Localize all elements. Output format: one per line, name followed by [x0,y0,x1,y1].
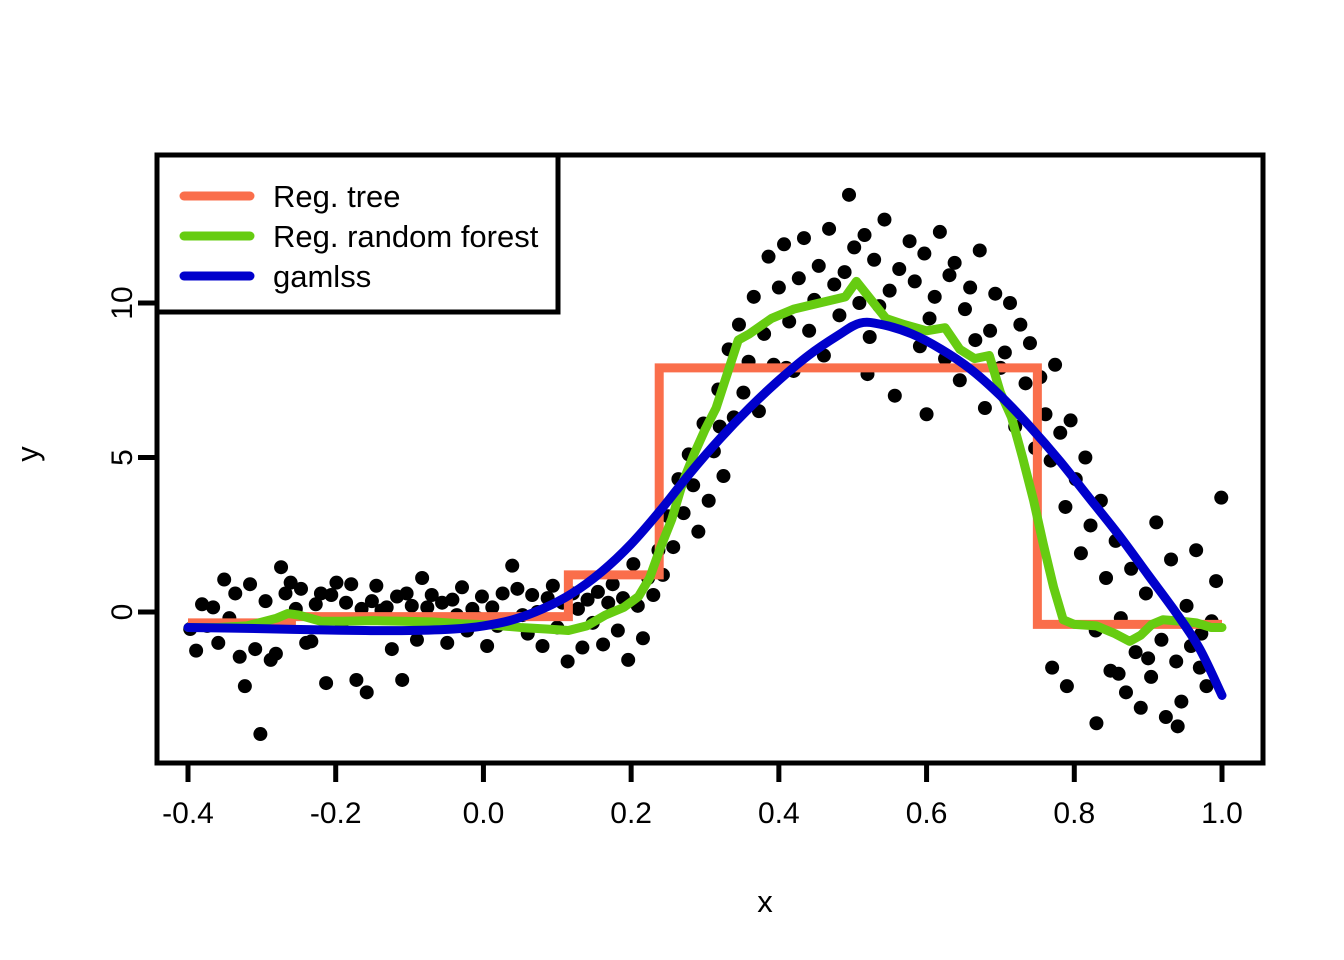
data-point [702,494,716,508]
data-point [827,277,841,291]
data-point [349,673,363,687]
data-point [812,259,826,273]
data-point [691,525,705,539]
data-point [415,571,429,585]
data-point [716,469,730,483]
data-point [546,579,560,593]
data-point [772,281,786,295]
data-point [319,676,333,690]
data-point [1141,651,1155,665]
data-point [304,634,318,648]
data-point [1089,716,1103,730]
data-point [842,188,856,202]
data-point [1134,701,1148,715]
data-point [822,222,836,236]
data-point [1112,667,1126,681]
data-point [802,324,816,338]
data-point [626,557,640,571]
data-point [525,588,539,602]
data-point [621,653,635,667]
data-point [385,642,399,656]
data-point [908,274,922,288]
legend-label: Reg. random forest [273,219,539,254]
data-point [867,253,881,267]
data-point [329,576,343,590]
x-axis-tick-label: 0.4 [758,797,800,830]
data-point [847,240,861,254]
data-point [274,560,288,574]
data-point [505,559,519,573]
legend-label: Reg. tree [273,179,401,214]
data-point [1099,571,1113,585]
data-point [1214,491,1228,505]
data-point [797,231,811,245]
data-point [536,639,550,653]
data-point [858,228,872,242]
data-point [1064,413,1078,427]
data-point [1074,546,1088,560]
data-point [1154,633,1168,647]
data-point [1171,719,1185,733]
data-point [1078,451,1092,465]
data-point [958,302,972,316]
data-point [480,639,494,653]
data-point [948,256,962,270]
data-point [747,290,761,304]
data-point [933,225,947,239]
data-point [1060,679,1074,693]
legend: Reg. treeReg. random forestgamlss [157,155,558,312]
data-point [832,308,846,322]
data-point [963,281,977,295]
data-point [903,234,917,248]
data-point [591,585,605,599]
data-point [983,324,997,338]
data-point [1149,515,1163,529]
data-point [238,679,252,693]
data-point [400,586,414,600]
data-point [732,318,746,332]
data-point [1045,661,1059,675]
data-point [892,262,906,276]
data-point [248,642,262,656]
data-point [1174,695,1188,709]
data-point [1119,685,1133,699]
data-point [369,579,383,593]
data-point [1209,574,1223,588]
data-point [344,577,358,591]
scatter-plot-canvas: -0.4-0.20.00.20.40.60.81.0x0510yReg. tre… [0,0,1344,960]
data-point [1058,500,1072,514]
x-axis-tick-label: -0.2 [310,797,362,830]
data-point [928,290,942,304]
data-point [988,287,1002,301]
chart-figure: -0.4-0.20.00.20.40.60.81.0x0510yReg. tre… [0,0,1344,960]
data-point [877,213,891,227]
data-point [233,650,247,664]
data-point [228,586,242,600]
x-axis-tick-label: 0.0 [463,797,505,830]
data-point [259,594,273,608]
data-point [973,243,987,257]
data-point [1048,358,1062,372]
data-point [1023,336,1037,350]
data-point [324,588,338,602]
data-point [360,685,374,699]
data-point [611,624,625,638]
x-axis-tick-label: 0.2 [610,797,652,830]
data-point [923,311,937,325]
data-point [189,644,203,658]
data-point [888,389,902,403]
data-point [1129,645,1143,659]
data-point [968,333,982,347]
data-point [978,401,992,415]
data-point [863,330,877,344]
data-point [1159,710,1173,724]
x-axis-tick-label: 1.0 [1201,797,1243,830]
data-point [883,284,897,298]
data-point [917,247,931,261]
data-point [206,600,220,614]
data-point [575,641,589,655]
data-point [1139,586,1153,600]
data-point [646,588,660,602]
data-point [998,345,1012,359]
x-axis-tick-label: 0.8 [1053,797,1095,830]
data-point [1144,670,1158,684]
data-point [496,586,510,600]
y-axis-tick-label: 10 [106,286,139,319]
data-point [1013,318,1027,332]
legend-label: gamlss [273,259,371,294]
data-point [762,250,776,264]
data-point [636,631,650,645]
data-point [1084,518,1098,532]
data-point [920,407,934,421]
y-axis-title: y [10,446,45,462]
x-axis-tick-label: 0.6 [906,797,948,830]
data-point [217,573,231,587]
data-point [561,654,575,668]
x-axis-tick-label: -0.4 [162,797,214,830]
data-point [1164,552,1178,566]
data-point [792,271,806,285]
data-point [294,582,308,596]
data-point [1180,599,1194,613]
data-point [475,590,489,604]
x-axis-title: x [757,884,773,919]
data-point [1003,296,1017,310]
data-point [253,727,267,741]
y-axis-tick-label: 5 [106,449,139,466]
data-point [1019,376,1033,390]
data-point [838,265,852,279]
data-point [596,637,610,651]
data-point [777,237,791,251]
data-point [1189,543,1203,557]
data-point [1169,654,1183,668]
data-point [243,577,257,591]
data-point [405,599,419,613]
data-point [1053,426,1067,440]
data-point [942,268,956,282]
data-point [445,593,459,607]
data-point [510,582,524,596]
data-point [666,540,680,554]
data-point [395,673,409,687]
data-point [211,636,225,650]
data-point [736,386,750,400]
data-point [455,580,469,594]
y-axis-tick-label: 0 [106,604,139,621]
data-point [269,647,283,661]
data-point [339,596,353,610]
data-point [953,373,967,387]
data-point [440,636,454,650]
